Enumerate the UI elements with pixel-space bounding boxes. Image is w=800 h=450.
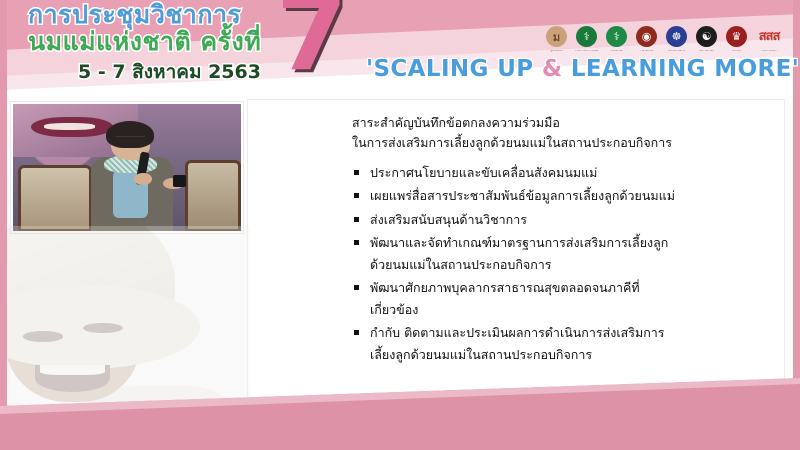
logo-royal-emblem-icon: ☸ พระมหากษัตริย์ [664, 23, 689, 50]
logo-university-icon: ☯ มหาวิทยาลัย [694, 23, 719, 50]
edition-number: 7 [276, 0, 348, 86]
slide-body: สาระสำคัญบันทึกข้อตกลงความร่วมมือ ในการส… [0, 96, 800, 450]
conference-title-line2: นมแม่แห่งชาติ ครั้งที่ [28, 29, 261, 56]
logo-glyph: ⚕ [576, 26, 597, 47]
logo-glyph: สสส [759, 30, 780, 43]
logo-caption: พระมหากษัตริย์ [664, 50, 689, 53]
logo-thaihealth-sss-icon: สสส THAI HEALTH [754, 23, 784, 50]
slogan-suffix: LEARNING MORE' [562, 56, 799, 82]
list-item: พัฒนาและจัดทำเกณฑ์มาตรฐานการส่งเสริมการเ… [352, 232, 772, 275]
logo-glyph: ♛ [726, 26, 747, 47]
list-item-line: ด้วยนมแม่ในสถานประกอบกิจการ [370, 254, 772, 276]
logo-institute-icon: ♛ สถาบัน [724, 23, 749, 50]
logo-royal-college-icon: ◉ ราชวิทยาลัย [634, 23, 659, 50]
logo-glyph: ◉ [636, 26, 657, 47]
list-item-line: พัฒนาและจัดทำเกณฑ์มาตรฐานการส่งเสริมการเ… [370, 232, 772, 254]
photo-backdrop-lips [31, 117, 113, 137]
content-heading: สาระสำคัญบันทึกข้อตกลงความร่วมมือ ในการส… [352, 113, 772, 154]
logo-glyph: ⚕ [606, 26, 627, 47]
slide-text-content: สาระสำคัญบันทึกข้อตกลงความร่วมมือ ในการส… [352, 113, 772, 367]
list-item: ประกาศนโยบายและขับเคลื่อนสังคมนมแม่ [352, 162, 772, 184]
photo-speaker-hair [106, 121, 154, 149]
list-item-line: พัฒนาศักยภาพบุคลากรสาธารณสุขตลอดจนภาคีที… [370, 277, 772, 299]
logo-glyph: ☸ [666, 26, 687, 47]
logo-glyph: ☯ [696, 26, 717, 47]
logo-glyph: ม [546, 26, 567, 47]
slogan-prefix: 'SCALING UP [366, 56, 542, 82]
photo-speaker-glasses [116, 136, 146, 142]
speaker-photo [10, 101, 244, 234]
logo-caption: THAI HEALTH [754, 50, 784, 53]
list-item: กำกับ ติดตามและประเมินผลการดำเนินการส่งเ… [352, 322, 772, 365]
logo-caption: กรมอนามัย [604, 50, 629, 53]
logo-caption: สถาบัน [724, 50, 749, 53]
watermark-teeth [40, 365, 105, 376]
list-item-line: เผยแพร่สื่อสารประชาสัมพันธ์ข้อมูลการเลี้… [370, 185, 772, 207]
content-heading-line1: สาระสำคัญบันทึกข้อตกลงความร่วมมือ [352, 113, 772, 133]
list-item: ส่งเสริมสนับสนุนด้านวิชาการ [352, 209, 772, 231]
list-item-line: เลี้ยงลูกด้วยนมแม่ในสถานประกอบกิจการ [370, 344, 772, 366]
content-heading-line2: ในการส่งเสริมการเลี้ยงลูกด้วยนมแม่ในสถาน… [352, 133, 772, 153]
list-item-line: กำกับ ติดตามและประเมินผลการดำเนินการส่งเ… [370, 322, 772, 344]
slide-header: การประชุมวิชาการ นมแม่แห่งชาติ ครั้งที่ … [0, 0, 800, 96]
conference-title-line1: การประชุมวิชาการ [28, 0, 241, 29]
list-item-line: เกี่ยวข้อง [370, 299, 772, 321]
logo-ministry-of-public-health-icon: ⚕ กระทรวงสาธารณสุข [574, 23, 599, 50]
list-item: เผยแพร่สื่อสารประชาสัมพันธ์ข้อมูลการเลี้… [352, 185, 772, 207]
logo-department-of-health-icon: ⚕ กรมอนามัย [604, 23, 629, 50]
conference-date: 5 - 7 สิงหาคม 2563 [78, 57, 261, 87]
presentation-slide: การประชุมวิชาการ นมแม่แห่งชาติ ครั้งที่ … [0, 0, 800, 450]
logo-caption: ศูนย์นมแม่ [544, 50, 569, 53]
logo-caption: กระทรวงสาธารณสุข [574, 50, 599, 53]
list-item-line: ส่งเสริมสนับสนุนด้านวิชาการ [370, 209, 772, 231]
conference-title: การประชุมวิชาการ นมแม่แห่งชาติ ครั้งที่ [28, 2, 261, 56]
photo-chair-left [18, 165, 92, 231]
photo-chair-right [185, 160, 241, 231]
conference-slogan: 'SCALING UP & LEARNING MORE' [366, 56, 799, 82]
bottom-decorative-band [0, 378, 800, 450]
bottom-band-main [0, 378, 800, 450]
logo-caption: มหาวิทยาลัย [694, 50, 719, 53]
speaker-photo-inner [13, 104, 241, 231]
watermark-eye-left [23, 331, 63, 342]
list-item: พัฒนาศักยภาพบุคลากรสาธารณสุขตลอดจนภาคีที… [352, 277, 772, 320]
photo-remote-clicker [173, 175, 187, 186]
logo-thai-breastfeeding-centre-icon: ม ศูนย์นมแม่ [544, 23, 569, 50]
watermark-eye-right [83, 323, 123, 334]
content-bullet-list: ประกาศนโยบายและขับเคลื่อนสังคมนมแม่ เผยแ… [352, 162, 772, 366]
logo-caption: ราชวิทยาลัย [634, 50, 659, 53]
slogan-ampersand: & [542, 56, 562, 82]
list-item-line: ประกาศนโยบายและขับเคลื่อนสังคมนมแม่ [370, 162, 772, 184]
sponsor-logo-strip: ม ศูนย์นมแม่ ⚕ กระทรวงสาธารณสุข ⚕ กรมอนา… [544, 23, 784, 50]
